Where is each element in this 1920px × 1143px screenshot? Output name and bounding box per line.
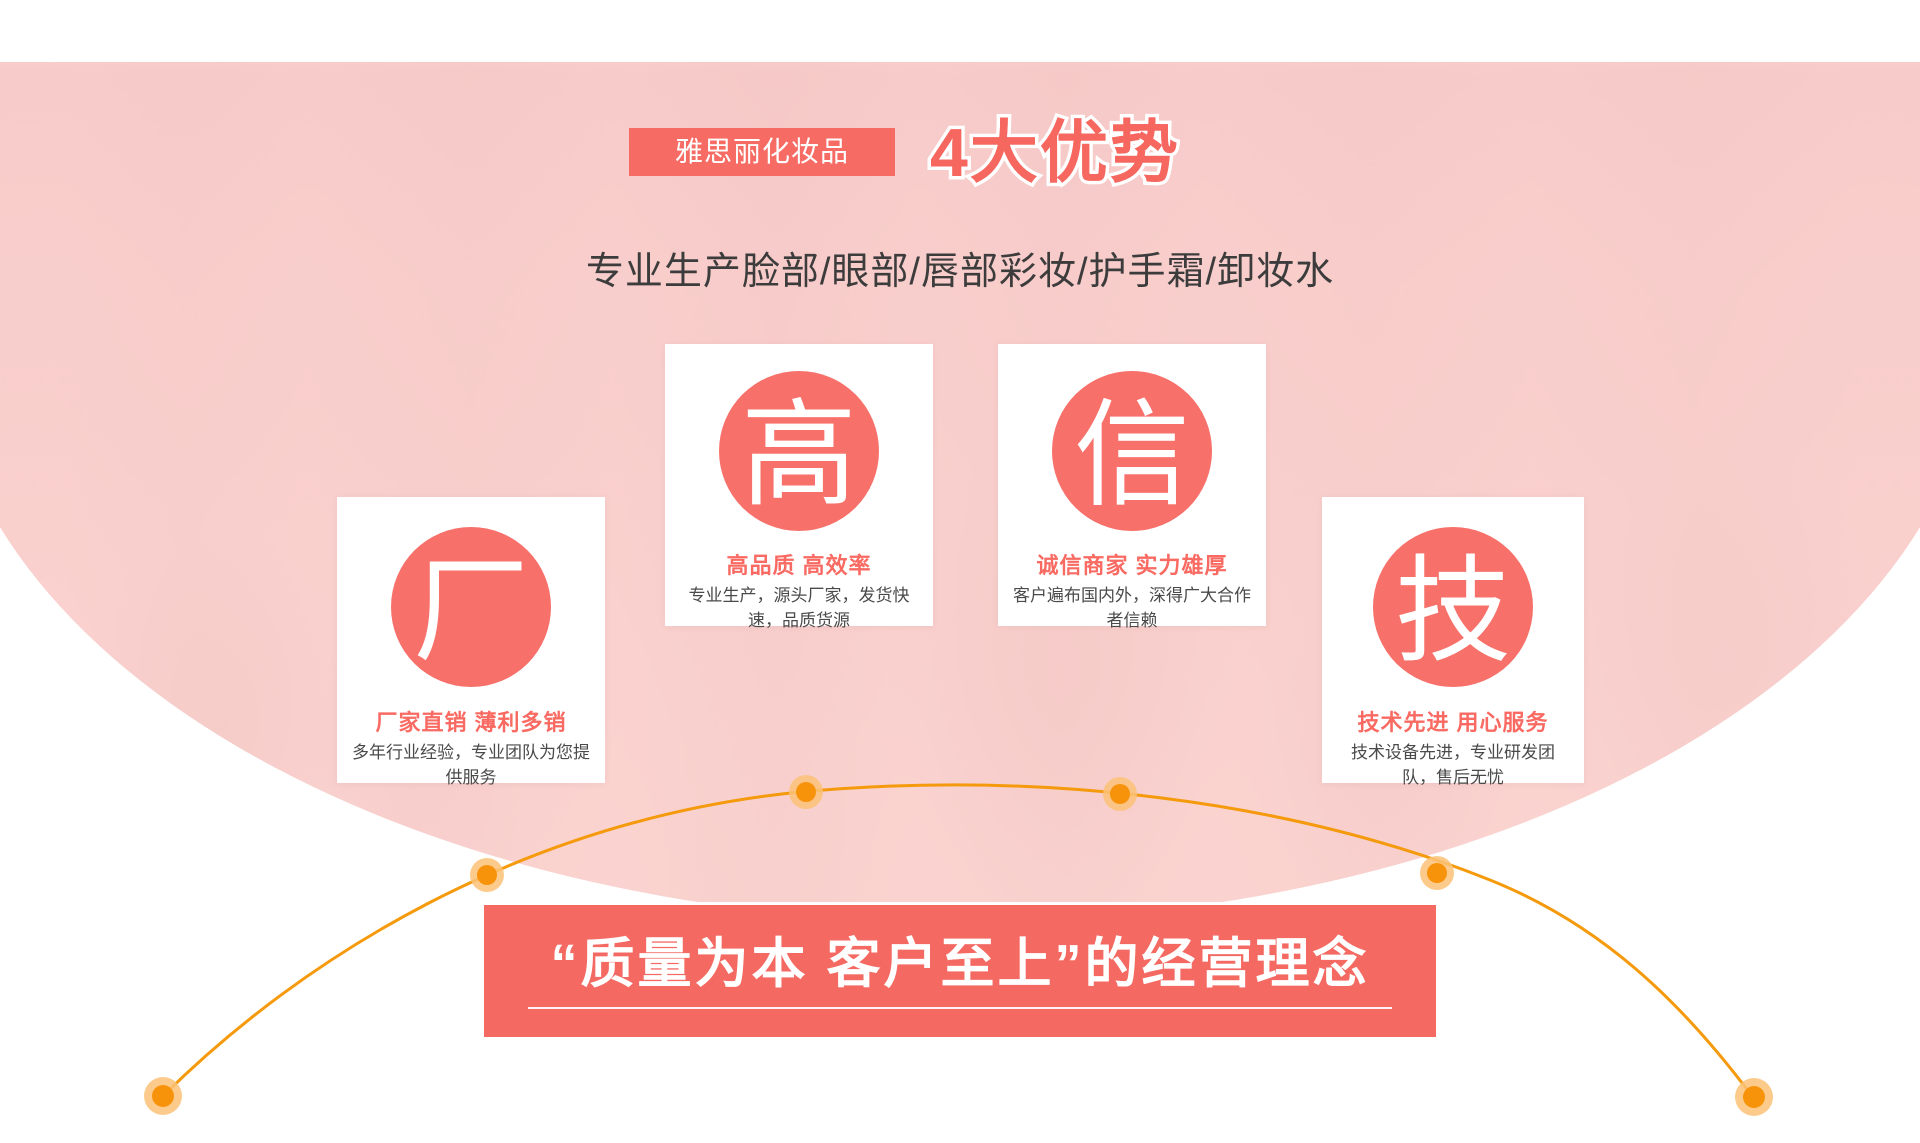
slogan-text: “质量为本 客户至上”的经营理念 — [484, 919, 1436, 998]
advantage-card-desc: 客户遍布国内外，深得广大合作者信赖 — [998, 583, 1266, 633]
page-title: 4大优势 — [930, 108, 1180, 198]
page-subtitle: 专业生产脸部/眼部/唇部彩妆/护手霜/卸妆水 — [0, 240, 1920, 295]
arc-dot — [1743, 1086, 1765, 1108]
advantage-card-title: 技术先进 用心服务 — [1322, 705, 1584, 737]
trust-glyph-icon: 信 — [1052, 371, 1212, 531]
arc-dot-halo — [144, 1077, 182, 1115]
advantage-card-4[interactable]: 技 技术先进 用心服务 技术设备先进，专业研发团队，售后无忧 — [1322, 497, 1584, 783]
advantage-card-desc: 多年行业经验，专业团队为您提供服务 — [337, 740, 605, 790]
technology-glyph-icon: 技 — [1373, 527, 1533, 687]
arc-dot-halo — [1735, 1078, 1773, 1116]
factory-glyph-icon: 厂 — [391, 527, 551, 687]
arc-dot — [152, 1085, 174, 1107]
advantage-card-desc: 技术设备先进，专业研发团队，售后无忧 — [1322, 740, 1584, 790]
advantage-card-2[interactable]: 高 高品质 高效率 专业生产，源头厂家，发货快速，品质货源 — [665, 344, 933, 626]
high-quality-glyph-icon: 高 — [719, 371, 879, 531]
slogan-underline — [528, 1007, 1392, 1009]
advantage-card-title: 高品质 高效率 — [665, 548, 933, 580]
slogan-banner: “质量为本 客户至上”的经营理念 — [484, 905, 1436, 1037]
advantage-card-1[interactable]: 厂 厂家直销 薄利多销 多年行业经验，专业团队为您提供服务 — [337, 497, 605, 783]
advantage-card-3[interactable]: 信 诚信商家 实力雄厚 客户遍布国内外，深得广大合作者信赖 — [998, 344, 1266, 626]
advantage-card-title: 厂家直销 薄利多销 — [337, 705, 605, 737]
advantage-card-title: 诚信商家 实力雄厚 — [998, 548, 1266, 580]
poster-stage: 雅思丽化妆品 4大优势 4大优势 专业生产脸部/眼部/唇部彩妆/护手霜/卸妆水 … — [0, 0, 1920, 1143]
brand-badge: 雅思丽化妆品 — [629, 128, 895, 176]
advantage-card-desc: 专业生产，源头厂家，发货快速，品质货源 — [665, 583, 933, 633]
